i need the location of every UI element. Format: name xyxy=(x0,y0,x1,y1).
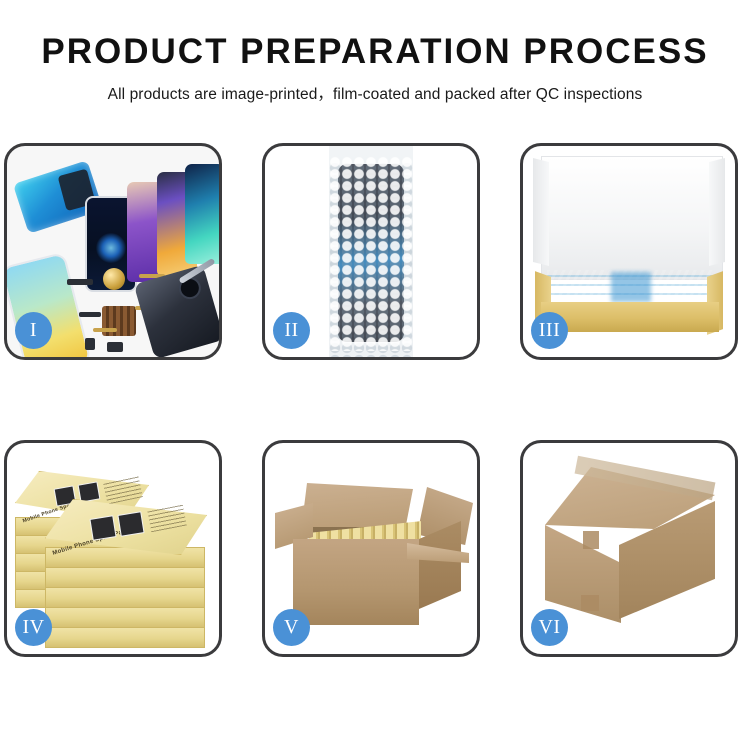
page-title: PRODUCT PREPARATION PROCESS xyxy=(0,34,750,69)
stacked-box xyxy=(45,627,205,648)
step-panel-5: V xyxy=(262,440,480,657)
step-panel-1: I xyxy=(4,143,222,360)
box-screen-print xyxy=(89,515,116,540)
step-badge-2: II xyxy=(273,312,310,349)
page-header: PRODUCT PREPARATION PROCESS All products… xyxy=(0,0,750,104)
box-screen-print xyxy=(78,481,101,502)
step-panel-2: II xyxy=(262,143,480,360)
box-lid-left-flap xyxy=(533,158,549,266)
component-part xyxy=(79,312,101,317)
step-panel-3: III xyxy=(520,143,738,360)
step-badge-4: IV xyxy=(15,609,52,646)
carton-front-panel xyxy=(293,539,419,625)
component-part xyxy=(107,342,123,352)
stacked-box xyxy=(45,567,205,588)
gold-coil-part xyxy=(103,268,125,290)
contents-blue-accent xyxy=(611,272,651,302)
process-steps-grid: I II III xyxy=(4,143,746,657)
page-subtitle: All products are image-printed，film-coat… xyxy=(0,82,750,104)
step-badge-5: V xyxy=(273,609,310,646)
stacked-box xyxy=(45,607,205,628)
teal-phone-shape xyxy=(185,164,219,264)
box-screen-print xyxy=(117,511,144,536)
component-part xyxy=(67,279,93,285)
flex-cable-part xyxy=(93,328,117,332)
component-part xyxy=(85,338,95,350)
step-panel-4: Mobile Phone Spare Parts Mobile Phone Sp… xyxy=(4,440,222,657)
step-panel-6: VI xyxy=(520,440,738,657)
stacked-box xyxy=(45,587,205,608)
bubble-texture-highlight xyxy=(329,156,413,351)
step-badge-6: VI xyxy=(531,609,568,646)
carton-seal-tab xyxy=(581,595,599,611)
carton-seal-tab xyxy=(583,531,599,549)
step-badge-1: I xyxy=(15,312,52,349)
step-badge-3: III xyxy=(531,312,568,349)
box-lid-shape xyxy=(541,156,723,280)
box-lid-right-flap xyxy=(709,158,725,266)
